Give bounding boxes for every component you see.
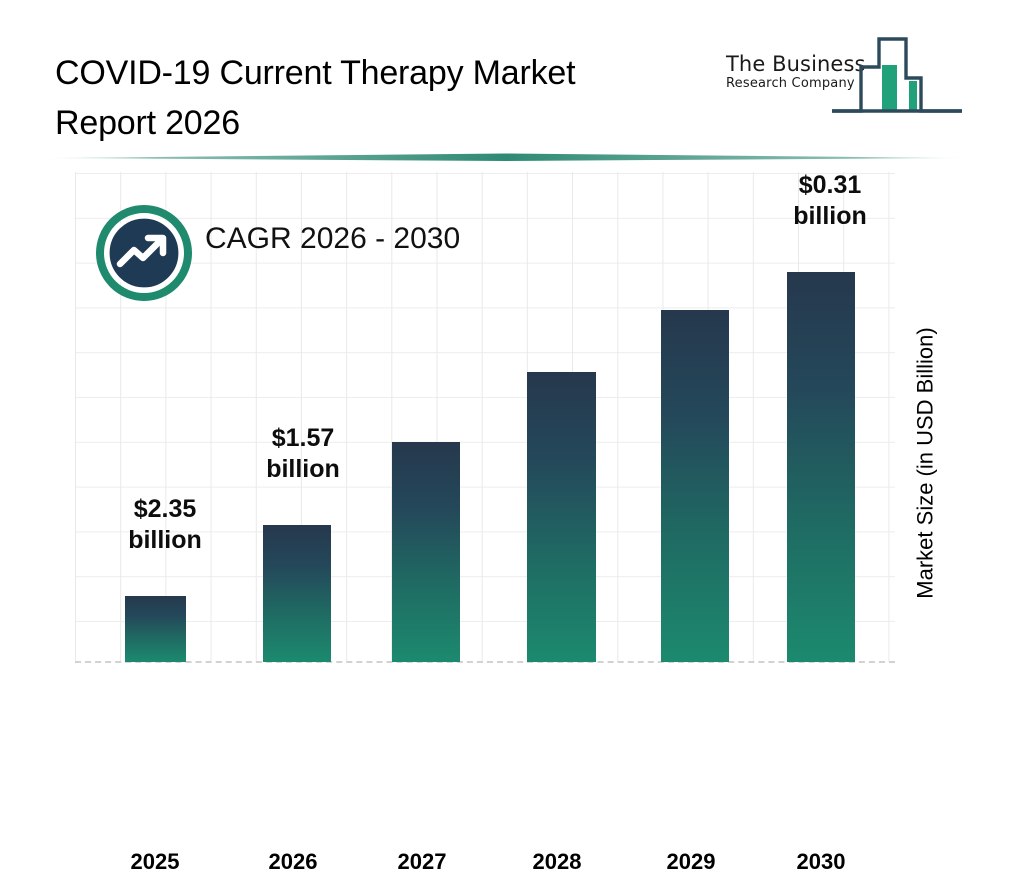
cagr-label: CAGR 2026 - 2030 [205,219,460,259]
bar-chart-skyline-logo-mark [830,32,964,122]
slide-canvas: COVID-19 Current Therapy Market Report 2… [0,0,1024,768]
x-axis-label-2028: 2028 [497,848,617,876]
header-divider [45,152,965,164]
bar-2027 [392,442,460,662]
page-title: COVID-19 Current Therapy Market Report 2… [55,48,695,148]
value-label-2026: $1.57 billion [238,423,368,485]
bar-chart: $2.35 billion$1.57 billion$0.31 billion … [75,172,895,662]
x-axis-label-2025: 2025 [95,848,215,876]
bar-2026 [263,525,331,662]
bar-2029 [661,310,729,662]
x-axis-label-2027: 2027 [362,848,482,876]
y-axis-title: Market Size (in USD Billion) [906,268,946,658]
value-label-2030: $0.31 billion [765,170,895,232]
bar-2030 [787,272,855,662]
x-axis-label-2029: 2029 [631,848,751,876]
bar-2028 [527,372,596,662]
chart-gridlines [75,172,895,662]
bar-2025 [125,596,186,662]
company-logo: The Business Research Company [722,32,972,130]
x-axis-label-2026: 2026 [233,848,353,876]
value-label-2025: $2.35 billion [100,494,230,556]
chart-baseline [75,661,895,663]
y-axis-title-text: Market Size (in USD Billion) [913,327,939,598]
trending-up-arrow-icon [96,205,192,301]
x-axis-label-2030: 2030 [761,848,881,876]
